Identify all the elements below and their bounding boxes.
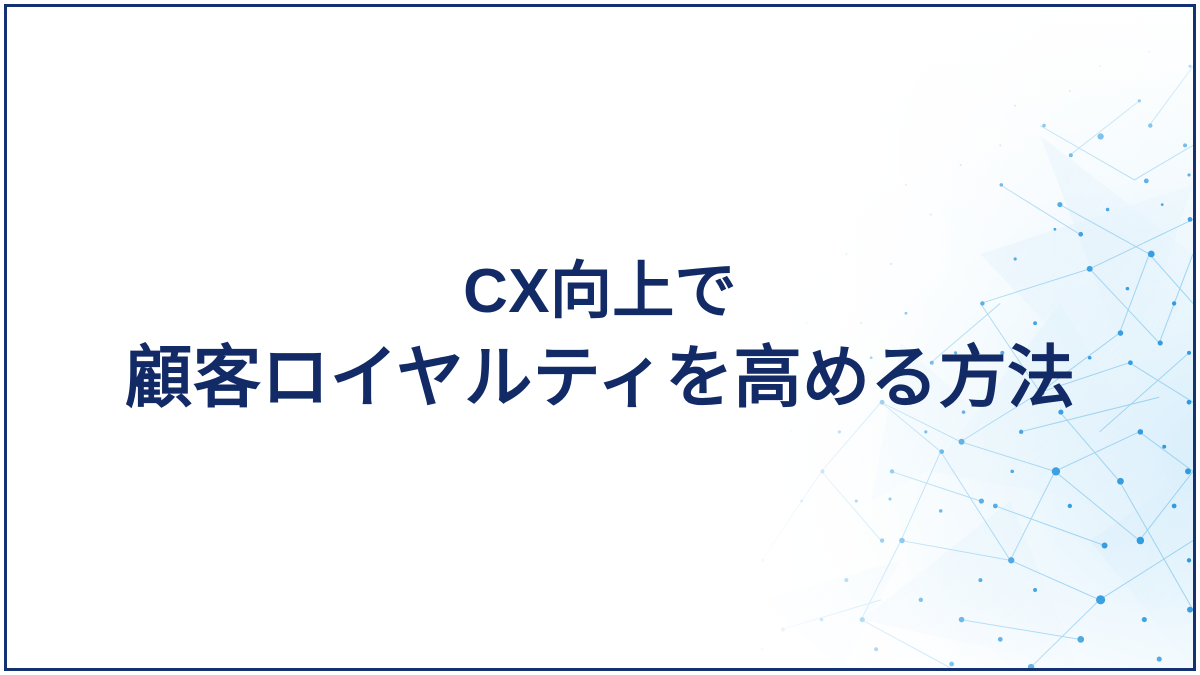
title-line-1: CX向上で xyxy=(463,250,737,333)
title-line-2: 顧客ロイヤルティを高める方法 xyxy=(125,333,1076,424)
card-border: CX向上で 顧客ロイヤルティを高める方法 xyxy=(4,4,1196,671)
page-title: CX向上で 顧客ロイヤルティを高める方法 xyxy=(7,7,1193,668)
eyecatch-card: CX向上で 顧客ロイヤルティを高める方法 xyxy=(0,0,1200,675)
